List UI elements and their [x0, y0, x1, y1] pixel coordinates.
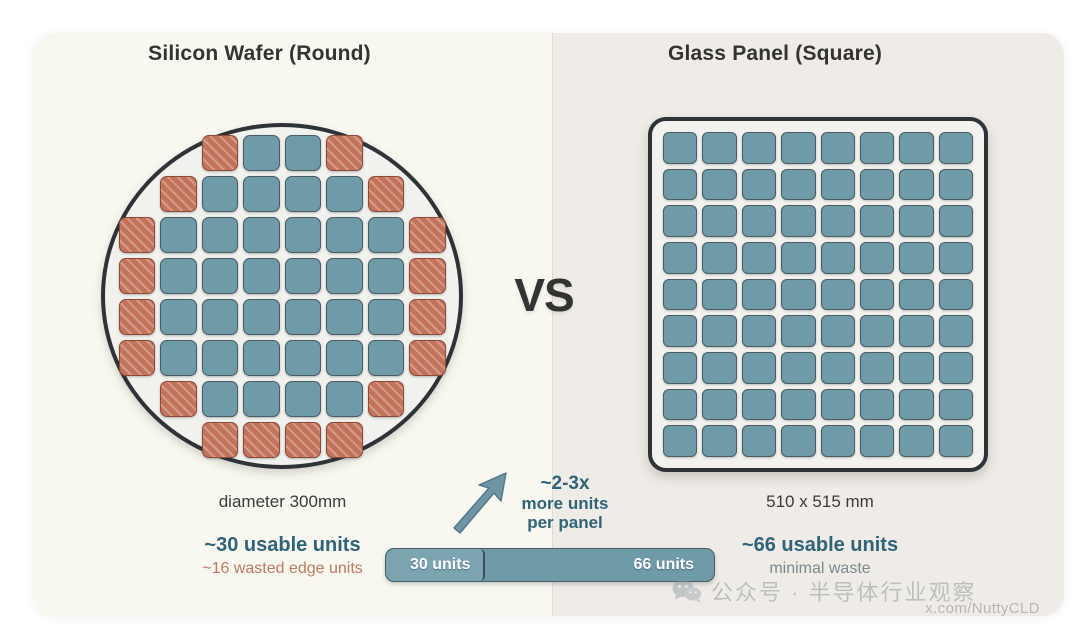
glass-unit-cell — [939, 205, 973, 237]
right-panel-title: Glass Panel (Square) — [519, 42, 1031, 66]
glass-panel-illustration — [648, 117, 988, 472]
wafer-wasted-edge-cell — [119, 340, 156, 376]
units-comparison-bar: 30 units 66 units — [385, 548, 715, 582]
glass-unit-cell — [821, 242, 855, 274]
glass-unit-cell — [821, 389, 855, 421]
glass-unit-cell — [742, 279, 776, 311]
glass-unit-cell — [860, 352, 894, 384]
glass-unit-cell — [860, 315, 894, 347]
wafer-wasted-edge-cell — [285, 422, 322, 458]
glass-unit-cell — [663, 352, 697, 384]
wafer-usable-cell — [326, 381, 363, 417]
wafer-usable-cell — [285, 258, 322, 294]
glass-unit-cell — [860, 132, 894, 164]
wafer-usable-cell — [368, 258, 405, 294]
glass-unit-cell — [899, 205, 933, 237]
glass-unit-cell — [781, 205, 815, 237]
glass-unit-cell — [939, 279, 973, 311]
glass-unit-cell — [899, 132, 933, 164]
wafer-wasted-edge-cell — [160, 381, 197, 417]
wafer-usable-cell — [285, 299, 322, 335]
glass-unit-cell — [939, 389, 973, 421]
wafer-usable-cell — [202, 217, 239, 253]
glass-unit-cell — [742, 169, 776, 201]
glass-unit-cell — [899, 425, 933, 457]
wafer-wasted-edge-cell — [409, 340, 446, 376]
glass-panel-grid — [663, 132, 973, 457]
glass-unit-cell — [899, 242, 933, 274]
glass-unit-cell — [939, 132, 973, 164]
wafer-usable-cell — [243, 135, 280, 171]
infographic-canvas: Silicon Wafer (Round) Glass Panel (Squar… — [0, 0, 1080, 628]
glass-unit-cell — [742, 315, 776, 347]
multiplier-callout: ~2-3x more units per panel — [505, 473, 625, 532]
wafer-usable-cell — [243, 258, 280, 294]
wafer-usable-cell — [285, 340, 322, 376]
wafer-wasted-edge-cell — [326, 422, 363, 458]
glass-unit-cell — [702, 169, 736, 201]
wafer-usable-cell — [368, 340, 405, 376]
glass-unit-cell — [663, 242, 697, 274]
glass-unit-cell — [663, 169, 697, 201]
wafer-usable-cell — [202, 340, 239, 376]
glass-unit-cell — [781, 132, 815, 164]
glass-unit-cell — [742, 205, 776, 237]
wafer-wasted-edge-cell — [368, 176, 405, 212]
wafer-usable-cell — [243, 299, 280, 335]
glass-unit-cell — [939, 242, 973, 274]
wafer-usable-cell — [285, 135, 322, 171]
glass-unit-cell — [742, 425, 776, 457]
right-dimension-label: 510 x 515 mm — [680, 492, 960, 512]
glass-unit-cell — [663, 132, 697, 164]
wafer-wasted-edge-cell — [202, 422, 239, 458]
wafer-wasted-edge-cell — [119, 217, 156, 253]
glass-unit-cell — [742, 132, 776, 164]
multiplier-line-1: more units — [505, 494, 625, 513]
bar-label-wafer-units: 30 units — [410, 556, 470, 574]
wafer-disc — [101, 123, 463, 469]
wafer-usable-cell — [160, 258, 197, 294]
wafer-usable-cell — [243, 217, 280, 253]
wafer-wasted-edge-cell — [119, 258, 156, 294]
growth-arrow-icon — [448, 468, 512, 534]
glass-unit-cell — [742, 352, 776, 384]
wafer-usable-cell — [285, 176, 322, 212]
wafer-usable-cell — [160, 217, 197, 253]
wafer-usable-cell — [326, 340, 363, 376]
glass-unit-cell — [899, 315, 933, 347]
glass-unit-cell — [702, 242, 736, 274]
glass-unit-cell — [899, 389, 933, 421]
glass-unit-cell — [860, 169, 894, 201]
wafer-usable-cell — [285, 217, 322, 253]
glass-unit-cell — [781, 352, 815, 384]
wafer-usable-cell — [160, 340, 197, 376]
glass-unit-cell — [742, 389, 776, 421]
wafer-usable-cell — [160, 299, 197, 335]
glass-unit-cell — [781, 279, 815, 311]
wafer-usable-cell — [368, 217, 405, 253]
glass-unit-cell — [702, 425, 736, 457]
wafer-usable-cell — [326, 299, 363, 335]
glass-unit-cell — [702, 352, 736, 384]
glass-unit-cell — [821, 315, 855, 347]
glass-unit-cell — [860, 205, 894, 237]
left-dimension-label: diameter 300mm — [135, 492, 430, 512]
wafer-usable-cell — [202, 381, 239, 417]
bar-label-panel-units: 66 units — [634, 556, 694, 574]
glass-unit-cell — [663, 279, 697, 311]
glass-unit-cell — [663, 425, 697, 457]
wafer-wasted-edge-cell — [409, 299, 446, 335]
glass-unit-cell — [702, 132, 736, 164]
wafer-usable-cell — [243, 176, 280, 212]
wafer-usable-cell — [202, 176, 239, 212]
wafer-wasted-edge-cell — [409, 258, 446, 294]
glass-unit-cell — [899, 279, 933, 311]
glass-unit-cell — [702, 389, 736, 421]
wafer-usable-cell — [202, 299, 239, 335]
glass-unit-cell — [702, 279, 736, 311]
glass-unit-cell — [939, 425, 973, 457]
glass-unit-cell — [939, 315, 973, 347]
multiplier-value: ~2-3x — [505, 473, 625, 494]
glass-unit-cell — [860, 242, 894, 274]
glass-unit-cell — [821, 132, 855, 164]
glass-unit-cell — [860, 279, 894, 311]
glass-unit-cell — [939, 169, 973, 201]
wafer-usable-cell — [326, 258, 363, 294]
wafer-usable-cell — [243, 381, 280, 417]
glass-unit-cell — [781, 242, 815, 274]
glass-unit-cell — [860, 389, 894, 421]
glass-unit-cell — [663, 315, 697, 347]
glass-unit-cell — [939, 352, 973, 384]
glass-unit-cell — [821, 352, 855, 384]
wafer-wasted-edge-cell — [326, 135, 363, 171]
glass-unit-cell — [702, 205, 736, 237]
wafer-wasted-edge-cell — [160, 176, 197, 212]
glass-unit-cell — [899, 169, 933, 201]
wafer-usable-cell — [368, 299, 405, 335]
wafer-usable-cell — [326, 217, 363, 253]
versus-label: VS — [484, 268, 604, 322]
glass-unit-cell — [702, 315, 736, 347]
url-watermark: x.com/NuttyCLD — [925, 600, 1040, 617]
wafer-usable-cell — [243, 340, 280, 376]
wafer-usable-cell — [202, 258, 239, 294]
wafer-usable-cell — [326, 176, 363, 212]
glass-unit-cell — [899, 352, 933, 384]
silicon-wafer-illustration — [101, 123, 463, 469]
multiplier-line-2: per panel — [505, 513, 625, 532]
glass-unit-cell — [821, 205, 855, 237]
glass-unit-cell — [781, 315, 815, 347]
wafer-wasted-edge-cell — [409, 217, 446, 253]
glass-unit-cell — [663, 389, 697, 421]
glass-unit-cell — [663, 205, 697, 237]
glass-unit-cell — [821, 169, 855, 201]
right-usable-units-stat: ~66 usable units — [680, 534, 960, 557]
glass-unit-cell — [821, 425, 855, 457]
wafer-wasted-edge-cell — [368, 381, 405, 417]
glass-unit-cell — [860, 425, 894, 457]
wafer-wasted-edge-cell — [119, 299, 156, 335]
wafer-wasted-edge-cell — [243, 422, 280, 458]
glass-unit-cell — [821, 279, 855, 311]
left-panel-title: Silicon Wafer (Round) — [0, 42, 519, 66]
wafer-usable-cell — [285, 381, 322, 417]
glass-unit-cell — [742, 242, 776, 274]
glass-unit-cell — [781, 425, 815, 457]
glass-unit-cell — [781, 169, 815, 201]
right-waste-stat: minimal waste — [680, 560, 960, 578]
wafer-wasted-edge-cell — [202, 135, 239, 171]
glass-unit-cell — [781, 389, 815, 421]
